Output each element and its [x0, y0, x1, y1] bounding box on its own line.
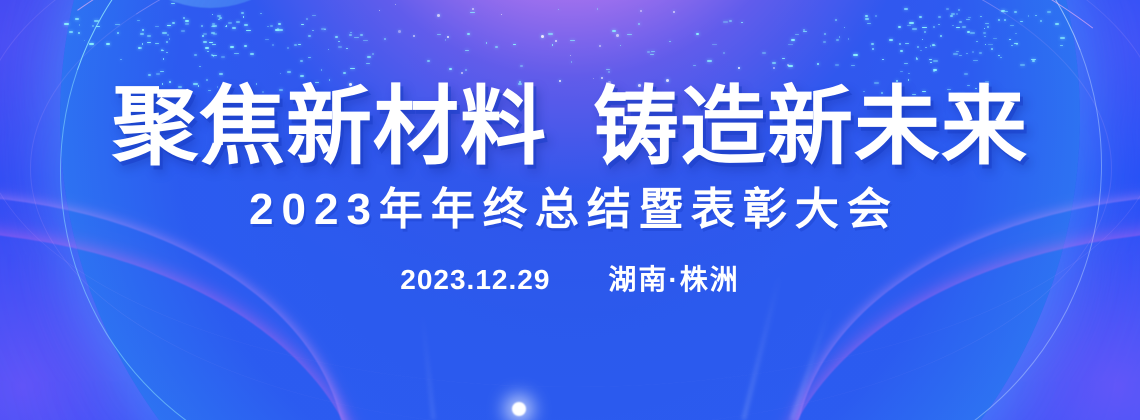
subtitle: 2023年年终总结暨表彰大会: [241, 188, 899, 232]
headline-part-2: 铸造新未来: [593, 84, 1028, 170]
conference-banner: 聚焦新材料 铸造新未来 2023年年终总结暨表彰大会 2023.12.29 湖南…: [0, 0, 1140, 420]
event-location: 湖南·株洲: [608, 266, 739, 294]
banner-content: 聚焦新材料 铸造新未来 2023年年终总结暨表彰大会 2023.12.29 湖南…: [0, 0, 1140, 420]
event-date: 2023.12.29: [400, 266, 550, 294]
event-meta: 2023.12.29 湖南·株洲: [400, 266, 739, 294]
headline-part-1: 聚焦新材料: [112, 84, 547, 170]
headline: 聚焦新材料 铸造新未来: [112, 84, 1028, 170]
